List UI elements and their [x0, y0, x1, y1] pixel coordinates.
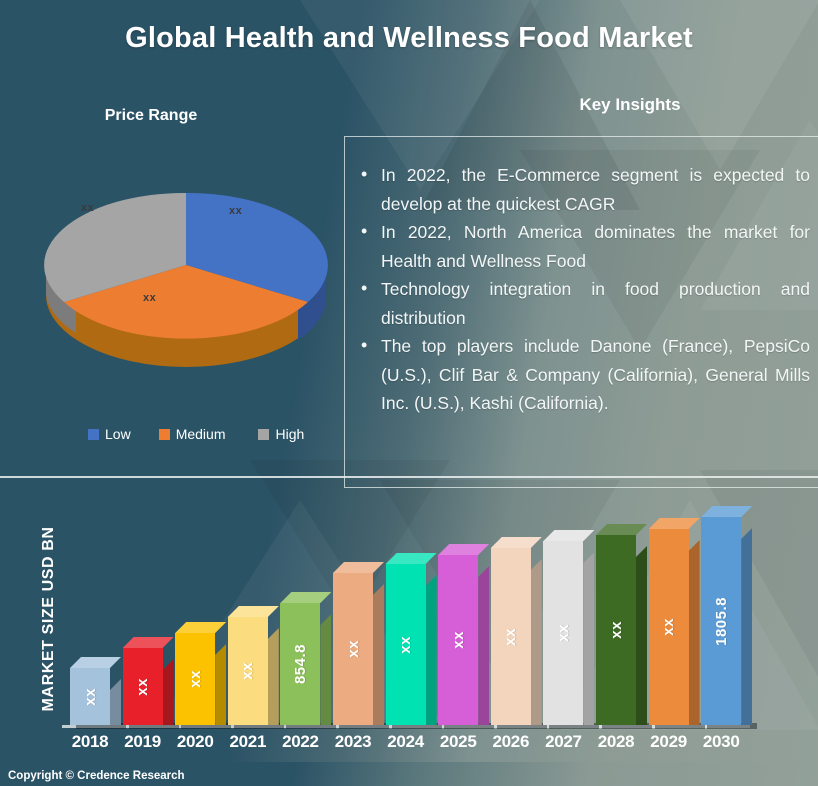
- bar-front-face: xx: [228, 617, 268, 725]
- bar-value-label: xx: [239, 662, 256, 680]
- bar-front-face: 1805.8: [701, 517, 741, 725]
- x-label-2029: 2029: [643, 732, 695, 752]
- bar-side: [636, 546, 647, 725]
- bar-top-face: [386, 553, 437, 564]
- bar-top-face: [701, 506, 752, 517]
- x-label-2025: 2025: [432, 732, 484, 752]
- key-insights-list: In 2022, the E-Commerce segment is expec…: [359, 161, 810, 418]
- bar-front-face: xx: [175, 633, 215, 725]
- bar-value-label: 1805.8: [713, 597, 730, 646]
- legend-swatch-icon: [88, 429, 99, 440]
- legend-label: High: [275, 426, 304, 442]
- bar-side: [215, 644, 226, 725]
- bar-side: [373, 584, 384, 725]
- bar-front-face: xx: [123, 648, 163, 725]
- page-title: Global Health and Wellness Food Market: [0, 22, 818, 55]
- bar-side: [320, 614, 331, 725]
- bar-side: [583, 552, 594, 725]
- pie-label-medium: xx: [143, 292, 156, 304]
- insight-text: Technology integration in food productio…: [381, 275, 810, 332]
- bar-2029[interactable]: xx: [649, 529, 689, 725]
- bar-top-face: [70, 657, 121, 668]
- pie-chart-title: Price Range: [62, 107, 240, 125]
- section-divider: [0, 476, 818, 478]
- bar-side: [163, 659, 174, 725]
- copyright-text: Copyright © Credence Research: [8, 770, 185, 782]
- x-label-2023: 2023: [327, 732, 379, 752]
- x-label-2026: 2026: [485, 732, 537, 752]
- bar-side: [426, 575, 437, 725]
- bar-front-face: xx: [386, 564, 426, 725]
- bar-2018[interactable]: xx: [70, 668, 110, 725]
- bar-side: [689, 540, 700, 725]
- bar-top-face: [333, 562, 384, 573]
- bar-value-label: 854.8: [292, 644, 309, 684]
- insight-text: In 2022, North America dominates the mar…: [381, 218, 810, 275]
- x-label-2020: 2020: [169, 732, 221, 752]
- bar-front-face: xx: [491, 548, 531, 725]
- bar-2028[interactable]: xx: [596, 535, 636, 725]
- bar-side: [110, 679, 121, 725]
- bar-2030[interactable]: 1805.8: [701, 517, 741, 725]
- bar-value-label: xx: [608, 621, 625, 639]
- y-axis-label: MARKET SIZE USD BN: [40, 524, 58, 714]
- market-size-bar-chart: MARKET SIZE USD BN xxxxxxxx854.8xxxxxxxx…: [0, 490, 818, 786]
- bar-top-face: [491, 537, 542, 548]
- x-label-2028: 2028: [590, 732, 642, 752]
- pie-chart-legend: Low Medium High: [88, 424, 348, 444]
- legend-item-medium: Medium: [159, 426, 226, 442]
- bar-2019[interactable]: xx: [123, 648, 163, 725]
- legend-item-low: Low: [88, 426, 131, 442]
- bar-value-label: xx: [397, 636, 414, 654]
- bar-value-label: xx: [82, 688, 99, 706]
- bar-side: [268, 628, 279, 725]
- bar-top-face: [280, 592, 331, 603]
- bar-front-face: xx: [543, 541, 583, 725]
- legend-swatch-icon: [159, 429, 170, 440]
- insight-item: In 2022, North America dominates the mar…: [359, 218, 810, 275]
- bar-value-label: xx: [555, 624, 572, 642]
- insight-item: Technology integration in food productio…: [359, 275, 810, 332]
- legend-item-high: High: [258, 426, 304, 442]
- insight-item: The top players include Danone (France),…: [359, 332, 810, 418]
- x-label-2022: 2022: [274, 732, 326, 752]
- x-label-2018: 2018: [64, 732, 116, 752]
- bar-value-label: xx: [660, 618, 677, 636]
- infographic-root: Global Health and Wellness Food Market P…: [0, 0, 818, 786]
- bar-value-label: xx: [134, 678, 151, 696]
- bar-2025[interactable]: xx: [438, 555, 478, 725]
- bar-value-label: xx: [187, 670, 204, 688]
- bar-side: [531, 559, 542, 725]
- pie-chart-svg: [36, 150, 336, 380]
- bar-front-face: xx: [438, 555, 478, 725]
- bar-front-face: 854.8: [280, 603, 320, 725]
- pie-label-high: xx: [81, 202, 94, 214]
- key-insights-box: In 2022, the E-Commerce segment is expec…: [344, 136, 818, 488]
- x-label-2021: 2021: [222, 732, 274, 752]
- bar-2027[interactable]: xx: [543, 541, 583, 725]
- bar-value-label: xx: [345, 640, 362, 658]
- legend-label: Medium: [176, 426, 226, 442]
- insight-item: In 2022, the E-Commerce segment is expec…: [359, 161, 810, 218]
- bar-top-face: [596, 524, 647, 535]
- bar-2021[interactable]: xx: [228, 617, 268, 725]
- bar-top-face: [228, 606, 279, 617]
- bar-front-face: xx: [333, 573, 373, 725]
- bar-2023[interactable]: xx: [333, 573, 373, 725]
- bar-top-face: [175, 622, 226, 633]
- x-label-2027: 2027: [537, 732, 589, 752]
- insight-text: In 2022, the E-Commerce segment is expec…: [381, 161, 810, 218]
- bar-value-label: xx: [502, 628, 519, 646]
- legend-label: Low: [105, 426, 131, 442]
- x-label-2019: 2019: [117, 732, 169, 752]
- bar-top-face: [438, 544, 489, 555]
- x-label-2030: 2030: [695, 732, 747, 752]
- bar-side: [741, 528, 752, 725]
- bar-value-label: xx: [450, 631, 467, 649]
- bar-2024[interactable]: xx: [386, 564, 426, 725]
- price-range-pie-chart: xx xx xx: [36, 150, 336, 380]
- key-insights-title: Key Insights: [440, 95, 818, 115]
- bar-2026[interactable]: xx: [491, 548, 531, 725]
- bar-top-face: [123, 637, 174, 648]
- bar-front-face: xx: [649, 529, 689, 725]
- bar-2022[interactable]: 854.8: [280, 603, 320, 725]
- bar-front-face: xx: [70, 668, 110, 725]
- bar-side: [478, 566, 489, 725]
- bar-front-face: xx: [596, 535, 636, 725]
- pie-label-low: xx: [229, 205, 242, 217]
- bar-2020[interactable]: xx: [175, 633, 215, 725]
- x-label-2024: 2024: [380, 732, 432, 752]
- insight-text: The top players include Danone (France),…: [381, 332, 810, 418]
- bar-top-face: [543, 530, 594, 541]
- legend-swatch-icon: [258, 429, 269, 440]
- bar-top-face: [649, 518, 700, 529]
